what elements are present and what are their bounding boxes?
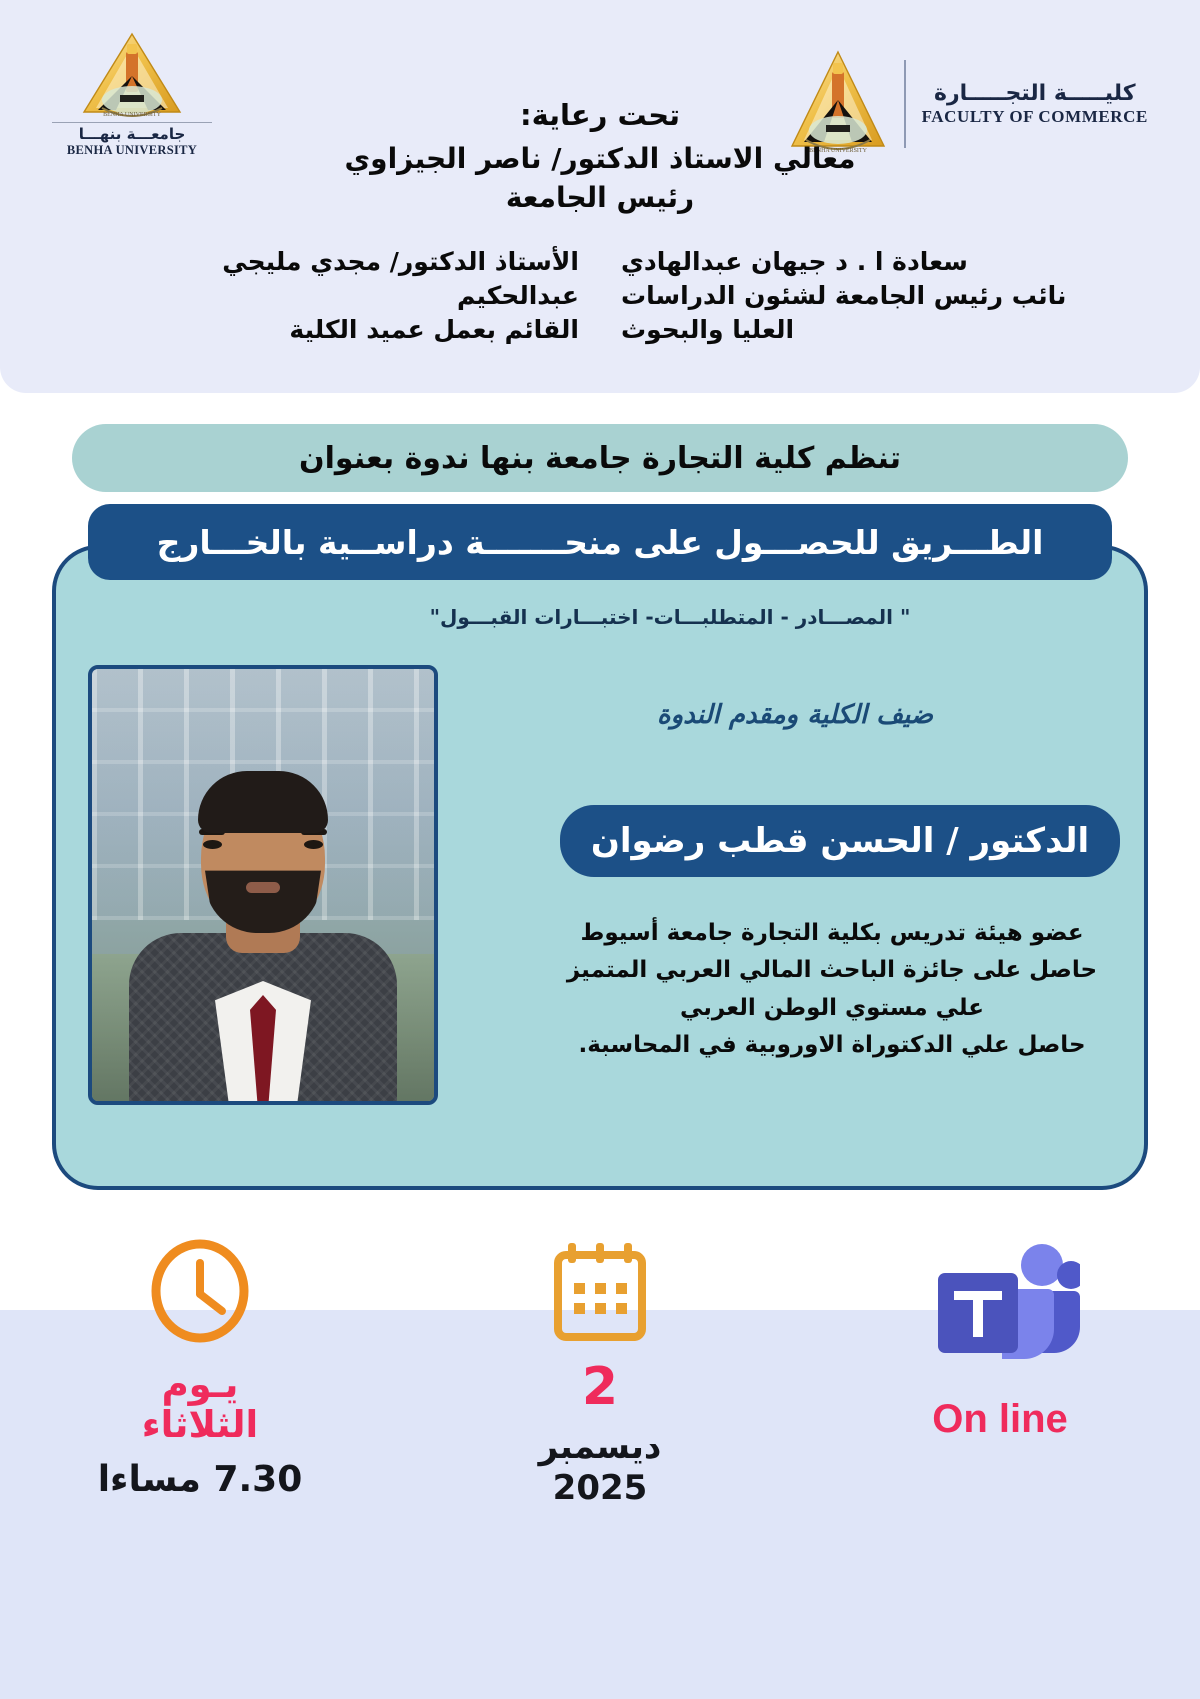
- speaker-bio: عضو هيئة تدريس بكلية التجارة جامعة أسيوط…: [556, 915, 1108, 1064]
- seminar-scope: " المصـــادر - المتطلبـــات- اختبـــارات…: [0, 605, 1200, 629]
- speaker-name-banner: الدكتور / الحسن قطب رضوان: [560, 805, 1120, 877]
- patronage-label: تحت رعاية:: [0, 96, 1200, 135]
- event-month: ديسمبر: [539, 1427, 662, 1468]
- official-name-line1: الأستاذ الدكتور/ مجدي مليجي: [46, 245, 579, 279]
- official-role-line2: العليا والبحوث: [621, 313, 1154, 347]
- bio-line-4: حاصل علي الدكتوراة الاوروبية في المحاسبة…: [556, 1027, 1108, 1064]
- header-band: BENHA UNIVERSITY جامعـــة بنهـــا BENHA …: [0, 0, 1200, 393]
- patronage-name: معالي الاستاذ الدكتور/ ناصر الجيزاوي: [0, 139, 1200, 178]
- official-name: سعادة ا . د جيهان عبدالهادي: [621, 245, 1154, 279]
- official-role-line1: نائب رئيس الجامعة لشئون الدراسات: [621, 279, 1154, 313]
- seminar-title-banner: الطـــريق للحصـــول على منحـــــــة دراس…: [88, 504, 1112, 580]
- speaker-photo: [88, 665, 438, 1105]
- footer-info-row: يـوم الثلاثاء 7.30 مساءا: [0, 1225, 1200, 1699]
- platform-block: On line: [800, 1225, 1200, 1699]
- clock-icon: [148, 1239, 252, 1343]
- time-block: يـوم الثلاثاء 7.30 مساءا: [0, 1225, 400, 1699]
- event-day-line1: يـوم: [142, 1365, 258, 1405]
- official-role: القائم بعمل عميد الكلية: [46, 313, 579, 347]
- event-day-number: 2: [582, 1361, 618, 1413]
- organizer-ribbon: تنظم كلية التجارة جامعة بنها ندوة بعنوان: [72, 424, 1128, 492]
- event-day-line2: الثلاثاء: [142, 1405, 258, 1445]
- speaker-portrait: [129, 801, 397, 1101]
- event-day: يـوم الثلاثاء: [142, 1365, 258, 1445]
- organizer-text: تنظم كلية التجارة جامعة بنها ندوة بعنوان: [299, 441, 901, 476]
- date-block: 2 ديسمبر 2025: [400, 1225, 800, 1699]
- patronage-role: رئيس الجامعة: [0, 178, 1200, 217]
- calendar-icon: [552, 1239, 648, 1343]
- guest-label: ضيف الكلية ومقدم الندوة: [498, 700, 1092, 730]
- official-vice-president: سعادة ا . د جيهان عبدالهادي نائب رئيس ال…: [597, 245, 1154, 347]
- seminar-title: الطـــريق للحصـــول على منحـــــــة دراس…: [157, 523, 1044, 562]
- event-year: 2025: [553, 1468, 648, 1508]
- event-poster: BENHA UNIVERSITY جامعـــة بنهـــا BENHA …: [0, 0, 1200, 1699]
- officials-row: سعادة ا . د جيهان عبدالهادي نائب رئيس ال…: [0, 245, 1200, 347]
- bio-line-1: عضو هيئة تدريس بكلية التجارة جامعة أسيوط: [556, 915, 1108, 952]
- seminar-scope-text: " المصـــادر - المتطلبـــات- اختبـــارات…: [430, 605, 911, 629]
- patronage-block: تحت رعاية: معالي الاستاذ الدكتور/ ناصر ا…: [0, 96, 1200, 218]
- official-name-line2: عبدالحكيم: [46, 279, 579, 313]
- speaker-name: الدكتور / الحسن قطب رضوان: [591, 821, 1089, 861]
- platform-label: On line: [932, 1397, 1068, 1442]
- bio-line-2: حاصل على جائزة الباحث المالي العربي المت…: [556, 952, 1108, 989]
- bio-line-3: علي مستوي الوطن العربي: [556, 990, 1108, 1027]
- official-acting-dean: الأستاذ الدكتور/ مجدي مليجي عبدالحكيم ال…: [46, 245, 597, 347]
- guest-label-text: ضيف الكلية ومقدم الندوة: [657, 700, 933, 730]
- microsoft-teams-icon: [920, 1239, 1080, 1371]
- event-time: 7.30 مساءا: [98, 1459, 303, 1500]
